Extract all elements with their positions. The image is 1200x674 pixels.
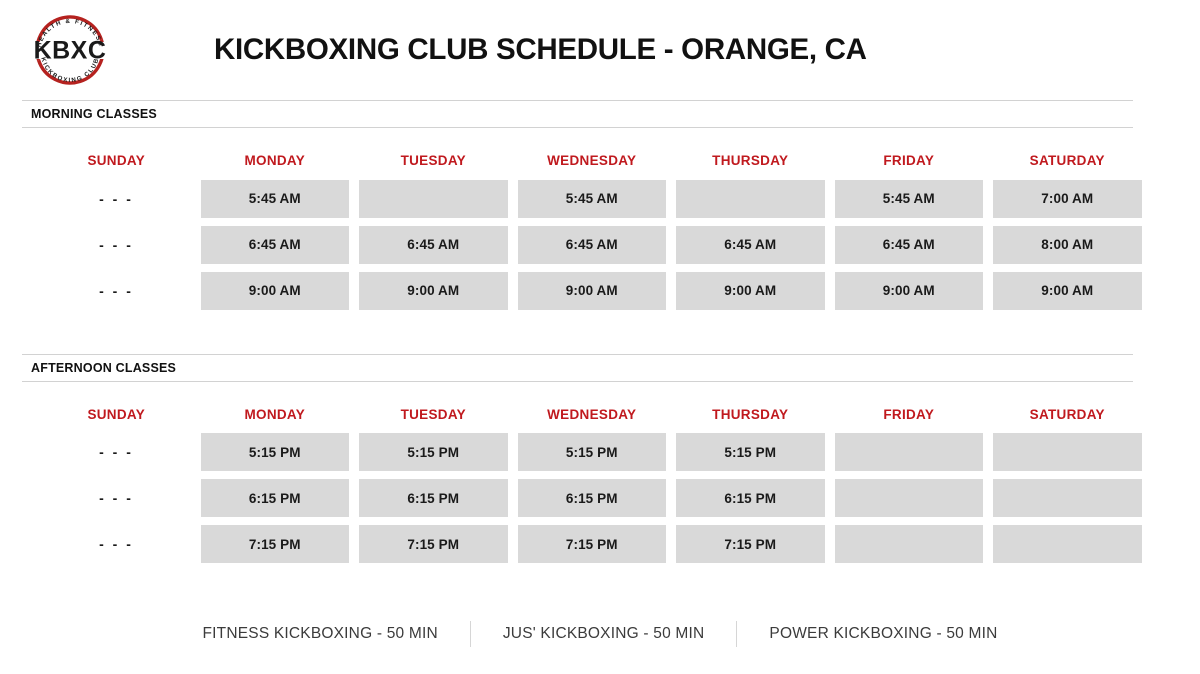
class-slot[interactable]: 6:45 AM	[201, 226, 350, 264]
class-slot[interactable]: 5:45 AM	[201, 180, 350, 218]
class-slot[interactable]: 6:15 PM	[359, 479, 508, 517]
day-header-monday: MONDAY	[201, 154, 350, 168]
class-slot[interactable]	[835, 479, 984, 517]
class-slot: - - -	[42, 525, 191, 563]
day-header-wednesday: WEDNESDAY	[518, 408, 667, 422]
class-slot[interactable]: 5:15 PM	[518, 433, 667, 471]
page-title: KICKBOXING CLUB SCHEDULE - ORANGE, CA	[214, 33, 867, 67]
section-title-afternoon: AFTERNOON CLASSES	[22, 361, 1133, 375]
class-slot[interactable]: 7:15 PM	[676, 525, 825, 563]
day-header-thursday: THURSDAY	[676, 408, 825, 422]
legend-item-power: POWER KICKBOXING - 50 MIN	[737, 625, 1029, 643]
class-row: - - - 9:00 AM 9:00 AM 9:00 AM 9:00 AM 9:…	[42, 272, 1178, 310]
page-header: HEALTH & FITNESS KICKBOXING CLUB KBXC KI…	[0, 0, 1200, 100]
day-header-tuesday: TUESDAY	[359, 408, 508, 422]
class-slot[interactable]: 5:45 AM	[835, 180, 984, 218]
section-band-morning: MORNING CLASSES	[22, 100, 1133, 128]
day-header-row-afternoon: SUNDAY MONDAY TUESDAY WEDNESDAY THURSDAY…	[42, 408, 1178, 422]
class-slot[interactable]	[993, 479, 1142, 517]
legend-item-fitness: FITNESS KICKBOXING - 50 MIN	[171, 625, 470, 643]
section-band-afternoon: AFTERNOON CLASSES	[22, 354, 1133, 382]
day-header-friday: FRIDAY	[835, 154, 984, 168]
kbxc-logo: HEALTH & FITNESS KICKBOXING CLUB KBXC	[22, 9, 118, 91]
class-slot[interactable]: 9:00 AM	[993, 272, 1142, 310]
class-slot[interactable]: 6:45 AM	[676, 226, 825, 264]
day-header-sunday: SUNDAY	[42, 154, 191, 168]
class-slot[interactable]: 7:00 AM	[993, 180, 1142, 218]
logo-graphic: HEALTH & FITNESS KICKBOXING CLUB KBXC	[22, 9, 118, 91]
class-slot[interactable]: 7:15 PM	[518, 525, 667, 563]
class-slot: - - -	[42, 226, 191, 264]
class-slot: - - -	[42, 180, 191, 218]
class-slot: - - -	[42, 272, 191, 310]
day-header-friday: FRIDAY	[835, 408, 984, 422]
class-slot[interactable]: 9:00 AM	[359, 272, 508, 310]
class-slot[interactable]	[676, 180, 825, 218]
schedule-morning: SUNDAY MONDAY TUESDAY WEDNESDAY THURSDAY…	[0, 154, 1200, 310]
class-slot: - - -	[42, 433, 191, 471]
class-slot[interactable]	[993, 433, 1142, 471]
day-header-saturday: SATURDAY	[993, 154, 1142, 168]
class-slot[interactable]: 7:15 PM	[201, 525, 350, 563]
class-slot[interactable]	[835, 525, 984, 563]
day-header-sunday: SUNDAY	[42, 408, 191, 422]
class-slot[interactable]	[835, 433, 984, 471]
class-slot[interactable]: 7:15 PM	[359, 525, 508, 563]
day-header-tuesday: TUESDAY	[359, 154, 508, 168]
class-slot[interactable]: 5:45 AM	[518, 180, 667, 218]
class-slot[interactable]: 6:45 AM	[835, 226, 984, 264]
class-slot[interactable]: 6:15 PM	[518, 479, 667, 517]
day-header-wednesday: WEDNESDAY	[518, 154, 667, 168]
class-slot[interactable]: 9:00 AM	[676, 272, 825, 310]
class-slot[interactable]: 9:00 AM	[835, 272, 984, 310]
day-header-row-morning: SUNDAY MONDAY TUESDAY WEDNESDAY THURSDAY…	[42, 154, 1178, 168]
class-row: - - - 5:15 PM 5:15 PM 5:15 PM 5:15 PM	[42, 433, 1178, 471]
class-slot[interactable]: 6:15 PM	[676, 479, 825, 517]
class-slot[interactable]: 5:15 PM	[359, 433, 508, 471]
class-row: - - - 6:45 AM 6:45 AM 6:45 AM 6:45 AM 6:…	[42, 226, 1178, 264]
class-slot[interactable]	[993, 525, 1142, 563]
legend-item-jus: JUS' KICKBOXING - 50 MIN	[471, 625, 737, 643]
day-header-thursday: THURSDAY	[676, 154, 825, 168]
section-title-morning: MORNING CLASSES	[22, 107, 1133, 121]
logo-wordmark: KBXC	[34, 37, 107, 65]
class-slot[interactable]: 9:00 AM	[518, 272, 667, 310]
class-row: - - - 6:15 PM 6:15 PM 6:15 PM 6:15 PM	[42, 479, 1178, 517]
class-type-legend: FITNESS KICKBOXING - 50 MIN JUS' KICKBOX…	[0, 621, 1200, 647]
class-slot[interactable]: 5:15 PM	[201, 433, 350, 471]
class-row: - - - 7:15 PM 7:15 PM 7:15 PM 7:15 PM	[42, 525, 1178, 563]
class-slot[interactable]	[359, 180, 508, 218]
schedule-afternoon: SUNDAY MONDAY TUESDAY WEDNESDAY THURSDAY…	[0, 408, 1200, 564]
class-slot[interactable]: 6:15 PM	[201, 479, 350, 517]
class-slot: - - -	[42, 479, 191, 517]
class-row: - - - 5:45 AM 5:45 AM 5:45 AM 7:00 AM	[42, 180, 1178, 218]
class-slot[interactable]: 6:45 AM	[359, 226, 508, 264]
class-slot[interactable]: 6:45 AM	[518, 226, 667, 264]
day-header-monday: MONDAY	[201, 408, 350, 422]
section-spacer	[0, 318, 1200, 354]
class-slot[interactable]: 5:15 PM	[676, 433, 825, 471]
class-slot[interactable]: 8:00 AM	[993, 226, 1142, 264]
class-slot[interactable]: 9:00 AM	[201, 272, 350, 310]
day-header-saturday: SATURDAY	[993, 408, 1142, 422]
